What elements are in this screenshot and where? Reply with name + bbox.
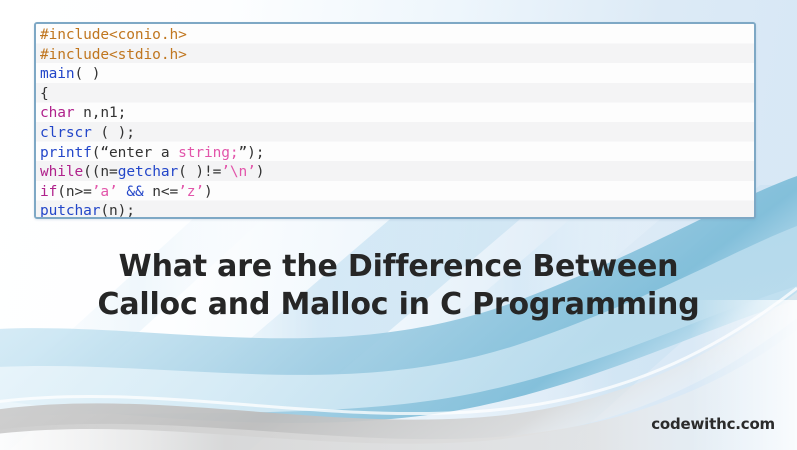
code-line: {	[40, 85, 754, 105]
code-text: #include<conio.h>#include<stdio.h>main( …	[36, 24, 754, 219]
code-line: putchar(n);	[40, 202, 754, 219]
code-line: printf(“enter a string;”);	[40, 144, 754, 164]
code-token: ’z’	[178, 184, 204, 200]
code-line: main( )	[40, 65, 754, 85]
code-line: while((n=getchar( )!=’\n’)	[40, 163, 754, 183]
title-line-1: What are the Difference Between	[0, 248, 797, 286]
code-line: #include<conio.h>	[40, 26, 754, 46]
code-token: char	[40, 105, 75, 121]
code-token: (“enter a	[92, 145, 178, 161]
slide-canvas: #include<conio.h>#include<stdio.h>main( …	[0, 0, 797, 450]
code-token: string;	[178, 145, 238, 161]
code-token: clrscr	[40, 125, 92, 141]
code-token: (n>=	[57, 184, 92, 200]
site-watermark: codewithc.com	[651, 415, 775, 433]
code-line: #include<stdio.h>	[40, 46, 754, 66]
code-token: ’\n’	[221, 164, 256, 180]
code-token: )	[204, 184, 213, 200]
code-token: )	[256, 164, 265, 180]
code-token: #include<conio.h>	[40, 27, 187, 43]
code-line: if(n>=’a’ && n<=’z’)	[40, 183, 754, 203]
code-token: #include<stdio.h>	[40, 47, 187, 63]
code-block: #include<conio.h>#include<stdio.h>main( …	[34, 22, 756, 219]
code-token: (n);	[100, 203, 135, 219]
code-token: n<=	[144, 184, 179, 200]
title-line-2: Calloc and Malloc in C Programming	[0, 286, 797, 324]
code-token: main	[40, 66, 75, 82]
page-title: What are the Difference Between Calloc a…	[0, 248, 797, 324]
code-token: printf	[40, 145, 92, 161]
code-token: ( )!=	[178, 164, 221, 180]
code-token: ( )	[75, 66, 101, 82]
code-token: &&	[126, 184, 143, 200]
code-token: if	[40, 184, 57, 200]
code-token: ( );	[92, 125, 135, 141]
code-token: putchar	[40, 203, 100, 219]
code-token: {	[40, 86, 49, 102]
code-token: ((n=	[83, 164, 118, 180]
code-line: clrscr ( );	[40, 124, 754, 144]
code-token: while	[40, 164, 83, 180]
code-token: getchar	[118, 164, 178, 180]
code-token: ”);	[239, 145, 265, 161]
code-token: n,n1;	[75, 105, 127, 121]
code-line: char n,n1;	[40, 104, 754, 124]
code-token: ’a’	[92, 184, 118, 200]
